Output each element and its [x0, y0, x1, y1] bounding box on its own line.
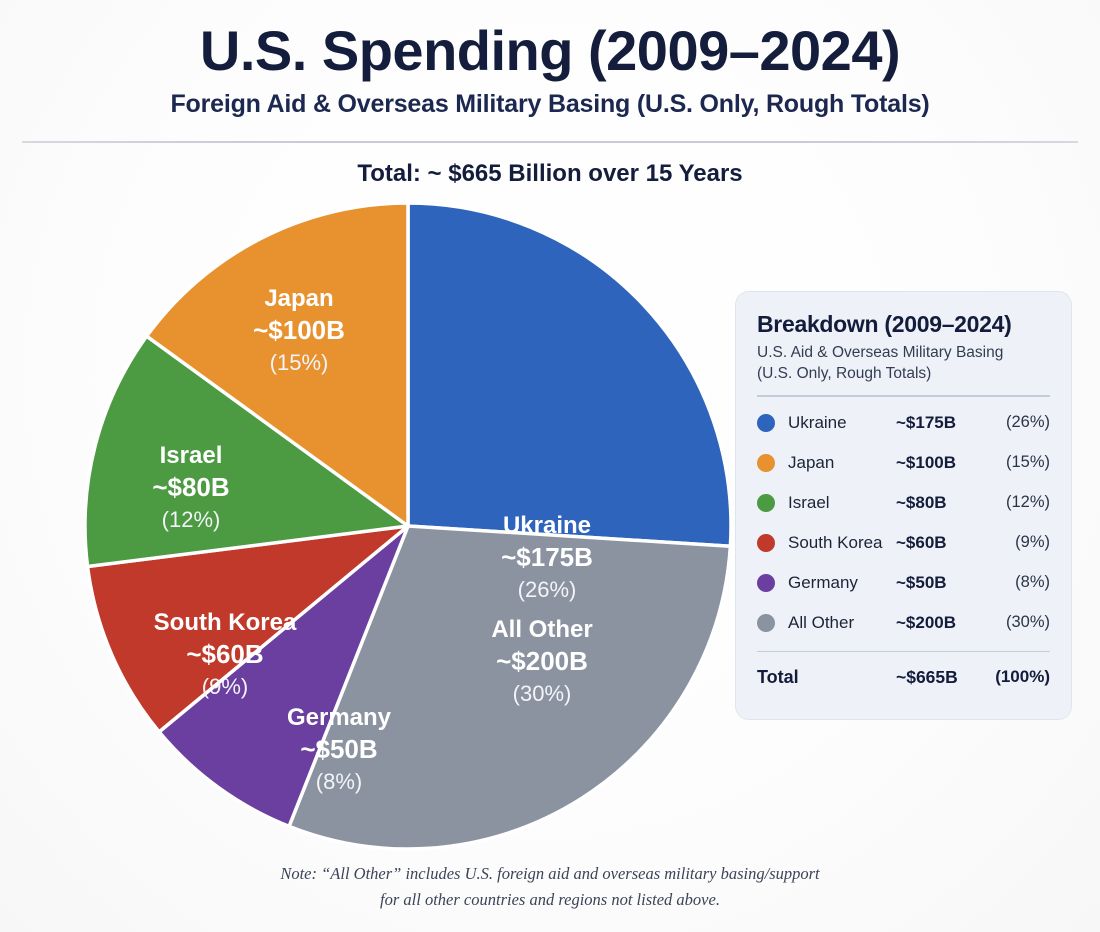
legend-color-swatch-icon: [757, 454, 775, 472]
legend-row-percent: (9%): [988, 533, 1050, 552]
header: U.S. Spending (2009–2024) Foreign Aid & …: [0, 0, 1100, 119]
legend-rule-top: [757, 395, 1050, 397]
legend-row-percent: (12%): [988, 493, 1050, 512]
legend-row[interactable]: Ukraine~$175B(26%): [757, 403, 1050, 443]
legend-card: Breakdown (2009–2024) U.S. Aid & Oversea…: [735, 291, 1072, 720]
infographic-page: U.S. Spending (2009–2024) Foreign Aid & …: [0, 0, 1100, 932]
legend-row-percent: (26%): [988, 413, 1050, 432]
footnote-line-1: Note: “All Other” includes U.S. foreign …: [0, 861, 1100, 887]
legend-row-value: ~$100B: [896, 453, 988, 473]
legend-title: Breakdown (2009–2024): [757, 311, 1050, 337]
pie-slice[interactable]: [408, 203, 731, 546]
total-summary-line: Total: ~ $665 Billion over 15 Years: [0, 160, 1100, 188]
legend-row-percent: (30%): [988, 613, 1050, 632]
legend-row[interactable]: Germany~$50B(8%): [757, 563, 1050, 603]
legend-row-name: Japan: [788, 453, 896, 473]
page-subtitle: Foreign Aid & Overseas Military Basing (…: [0, 90, 1100, 119]
legend-total-percent: (100%): [988, 667, 1050, 687]
legend-color-swatch-icon: [757, 494, 775, 512]
legend-row-value: ~$50B: [896, 573, 988, 593]
footnote: Note: “All Other” includes U.S. foreign …: [0, 861, 1100, 912]
legend-row-name: Ukraine: [788, 413, 896, 433]
header-divider: [22, 141, 1078, 143]
legend-row-name: All Other: [788, 613, 896, 633]
legend-row-percent: (8%): [988, 573, 1050, 592]
legend-row-name: Germany: [788, 573, 896, 593]
legend-row-value: ~$200B: [896, 613, 988, 633]
pie-slice-group: [85, 203, 731, 849]
legend-total-label: Total: [757, 667, 896, 688]
legend-row-percent: (15%): [988, 453, 1050, 472]
legend-row[interactable]: Israel~$80B(12%): [757, 483, 1050, 523]
legend-color-swatch-icon: [757, 414, 775, 432]
legend-subtitle-line-1: U.S. Aid & Overseas Military Basing: [757, 344, 1003, 361]
legend-row[interactable]: Japan~$100B(15%): [757, 443, 1050, 483]
legend-row-value: ~$175B: [896, 413, 988, 433]
legend-row-value: ~$60B: [896, 533, 988, 553]
pie-chart-svg: Ukraine~$175B(26%)All Other~$200B(30%)Ge…: [84, 197, 732, 855]
legend-row-list: Ukraine~$175B(26%)Japan~$100B(15%)Israel…: [757, 403, 1050, 643]
legend-row-name: Israel: [788, 493, 896, 513]
legend-color-swatch-icon: [757, 534, 775, 552]
legend-total-row: Total ~$665B (100%): [757, 660, 1050, 694]
footnote-line-2: for all other countries and regions not …: [0, 887, 1100, 913]
legend-subtitle: U.S. Aid & Overseas Military Basing (U.S…: [757, 343, 1050, 384]
legend-row[interactable]: South Korea~$60B(9%): [757, 523, 1050, 563]
pie-chart: Ukraine~$175B(26%)All Other~$200B(30%)Ge…: [84, 197, 732, 855]
legend-row-name: South Korea: [788, 533, 896, 553]
legend-total-value: ~$665B: [896, 667, 988, 688]
page-title: U.S. Spending (2009–2024): [0, 22, 1100, 81]
legend-row-value: ~$80B: [896, 493, 988, 513]
legend-color-swatch-icon: [757, 574, 775, 592]
legend-row[interactable]: All Other~$200B(30%): [757, 603, 1050, 643]
legend-rule-bottom: [757, 651, 1050, 653]
legend-color-swatch-icon: [757, 614, 775, 632]
legend-subtitle-line-2: (U.S. Only, Rough Totals): [757, 365, 931, 382]
